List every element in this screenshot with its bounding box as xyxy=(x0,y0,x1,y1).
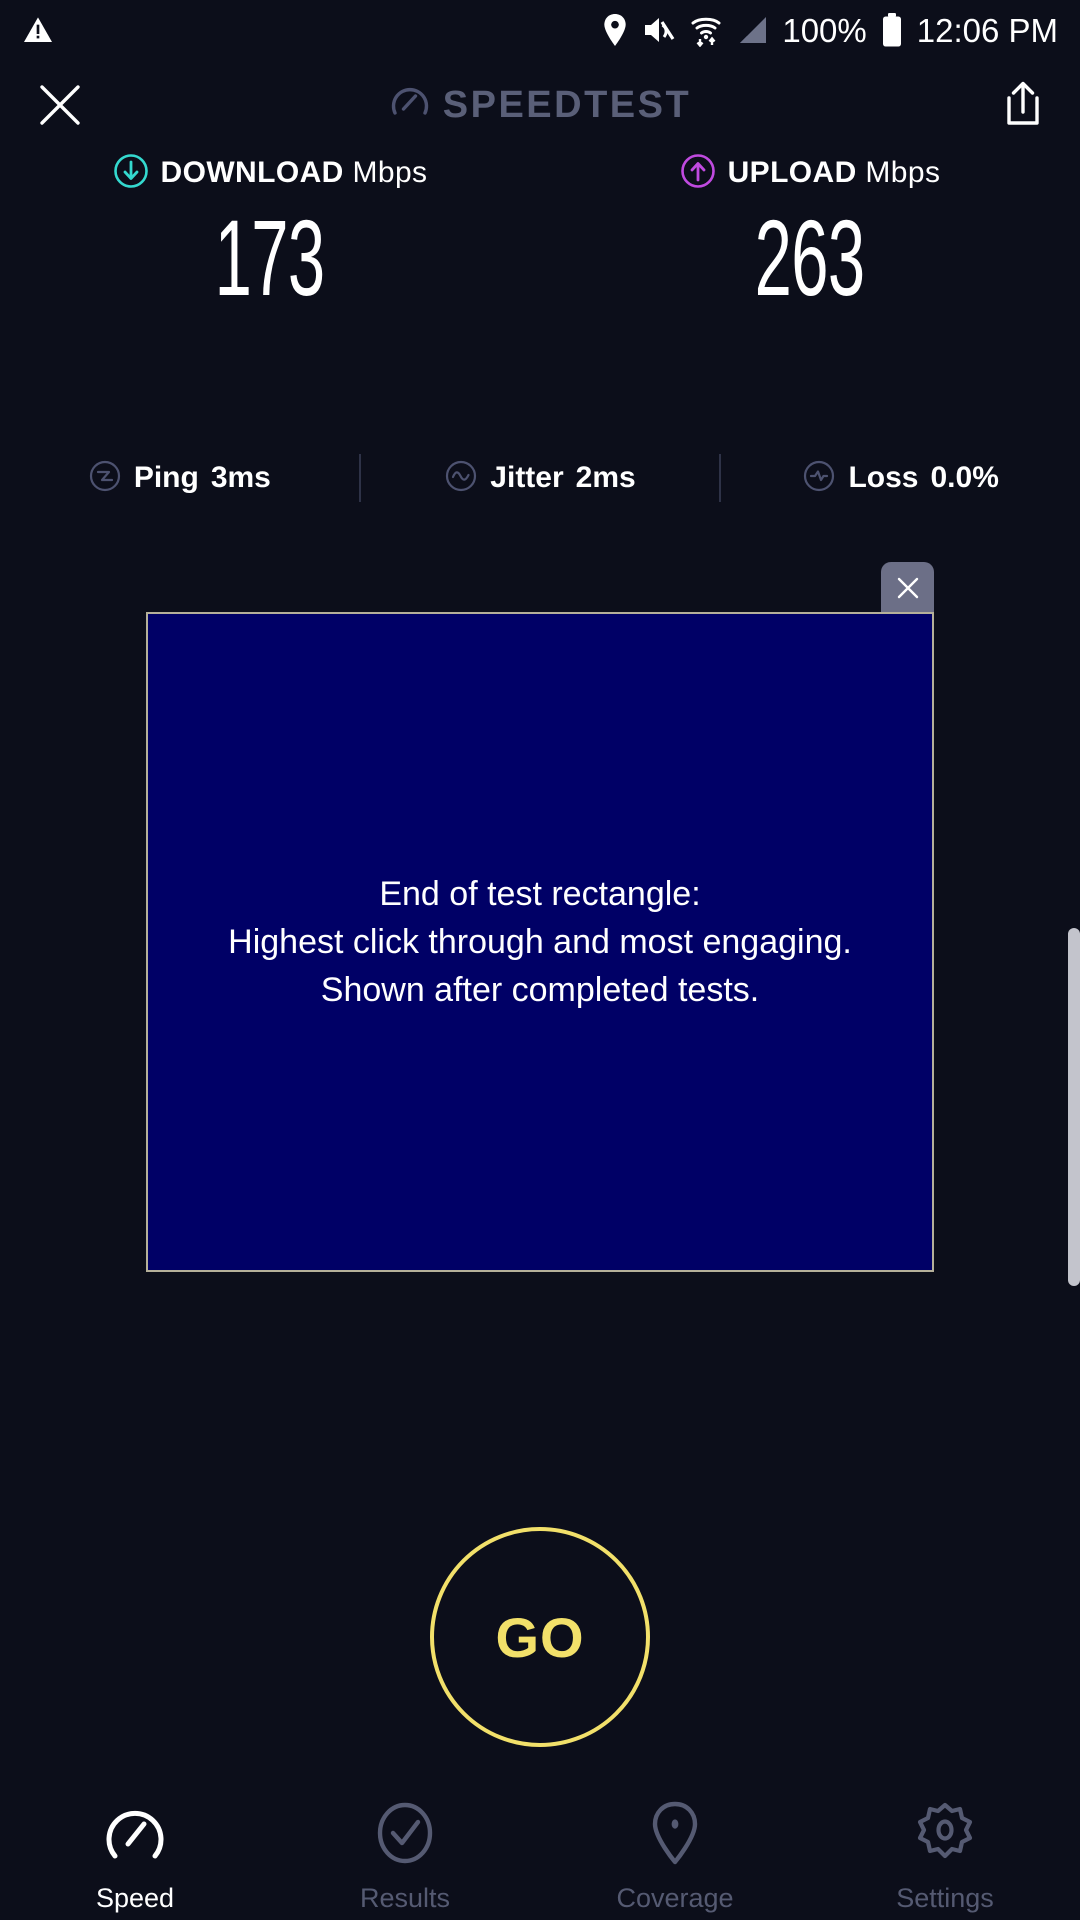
location-pin-icon xyxy=(642,1800,708,1871)
stat-ping-value: 3ms xyxy=(211,461,271,495)
status-bar: 100% 12:06 PM xyxy=(0,0,1080,60)
upload-label: UPLOAD Mbps xyxy=(728,156,941,190)
volume-muted-icon xyxy=(642,15,676,45)
stat-jitter-value: 2ms xyxy=(576,461,636,495)
stat-loss-name: Loss xyxy=(848,461,918,495)
download-upload-row: DOWNLOAD Mbps 173 UPLOAD Mbps xyxy=(0,150,1080,312)
download-label: DOWNLOAD Mbps xyxy=(161,156,428,190)
nav-label-results: Results xyxy=(360,1883,450,1914)
upload-unit: Mbps xyxy=(865,156,940,189)
download-unit: Mbps xyxy=(352,156,427,189)
share-icon xyxy=(1000,79,1046,131)
nav-item-results[interactable]: Results xyxy=(270,1790,540,1920)
page-scrollbar[interactable] xyxy=(1068,928,1080,1286)
status-bar-right: 100% 12:06 PM xyxy=(602,13,1058,47)
connection-stats-row: Ping 3ms Jitter 2ms xyxy=(0,448,1080,508)
warning-triangle-icon xyxy=(22,14,54,46)
bottom-navigation: Speed Results Coverage xyxy=(0,1790,1080,1920)
ad-close-button[interactable] xyxy=(881,562,934,614)
wifi-icon xyxy=(690,13,722,47)
nav-label-settings: Settings xyxy=(896,1883,994,1914)
share-button[interactable] xyxy=(1000,79,1046,131)
app-title-group: SPEEDTEST xyxy=(0,60,1080,150)
loss-icon xyxy=(802,459,836,498)
ad-close-icon xyxy=(892,572,924,604)
download-arrow-icon xyxy=(113,153,149,194)
nav-label-speed: Speed xyxy=(96,1883,174,1914)
speedtest-app-screen: 100% 12:06 PM SPEEDTEST xyxy=(0,0,1080,1920)
battery-percent-label: 100% xyxy=(782,14,866,47)
battery-full-icon xyxy=(881,13,903,47)
status-bar-left xyxy=(22,14,54,46)
stat-ping-name: Ping xyxy=(134,461,199,495)
page-title: SPEEDTEST xyxy=(443,84,691,127)
ping-icon xyxy=(88,459,122,498)
nav-item-speed[interactable]: Speed xyxy=(0,1790,270,1920)
go-button-label: GO xyxy=(495,1605,584,1670)
stat-loss-value: 0.0% xyxy=(931,461,999,495)
app-header: SPEEDTEST xyxy=(0,60,1080,150)
cellular-signal-icon xyxy=(736,15,768,45)
nav-item-settings[interactable]: Settings xyxy=(810,1790,1080,1920)
advertisement-banner[interactable]: End of test rectangle: Highest click thr… xyxy=(146,612,934,1272)
stat-loss: Loss 0.0% xyxy=(721,448,1080,508)
upload-arrow-icon xyxy=(680,153,716,194)
upload-value: 263 xyxy=(755,204,865,312)
location-pin-icon xyxy=(602,14,628,46)
nav-item-coverage[interactable]: Coverage xyxy=(540,1790,810,1920)
download-header: DOWNLOAD Mbps xyxy=(113,150,428,196)
gear-icon xyxy=(912,1800,978,1871)
go-button[interactable]: GO xyxy=(430,1527,650,1747)
close-icon xyxy=(34,79,86,131)
download-result: DOWNLOAD Mbps 173 xyxy=(0,150,540,312)
upload-label-text: UPLOAD xyxy=(728,156,857,189)
jitter-icon xyxy=(444,459,478,498)
download-label-text: DOWNLOAD xyxy=(161,156,344,189)
close-button[interactable] xyxy=(34,79,86,131)
speedtest-gauge-icon xyxy=(389,82,431,129)
stat-jitter: Jitter 2ms xyxy=(361,448,720,508)
ad-text: End of test rectangle: Highest click thr… xyxy=(228,870,852,1015)
check-circle-icon xyxy=(372,1800,438,1871)
nav-label-coverage: Coverage xyxy=(616,1883,733,1914)
stat-ping: Ping 3ms xyxy=(0,448,359,508)
download-value: 173 xyxy=(215,204,325,312)
stat-jitter-name: Jitter xyxy=(490,461,563,495)
speed-results: DOWNLOAD Mbps 173 UPLOAD Mbps xyxy=(0,150,1080,312)
upload-header: UPLOAD Mbps xyxy=(680,150,941,196)
upload-result: UPLOAD Mbps 263 xyxy=(540,150,1080,312)
speedometer-icon xyxy=(102,1800,168,1871)
clock-label: 12:06 PM xyxy=(917,14,1058,47)
